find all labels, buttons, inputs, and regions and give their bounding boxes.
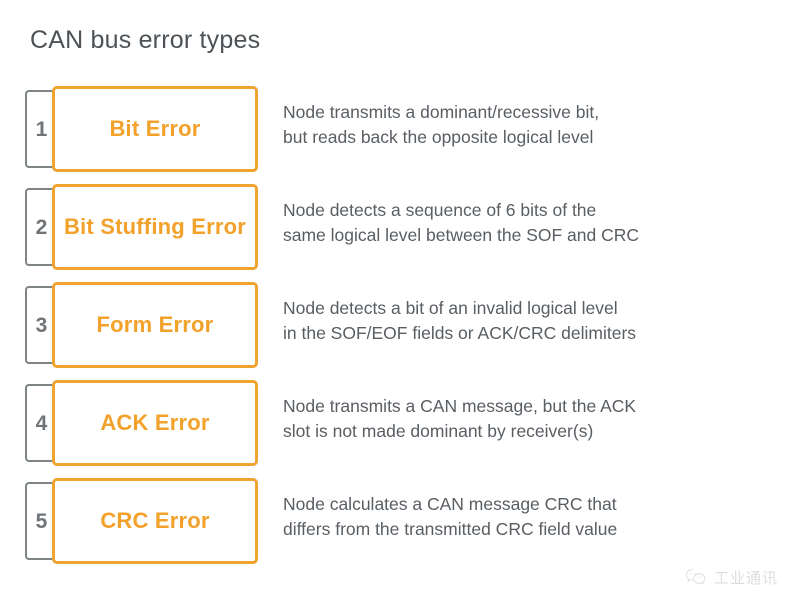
error-type-box[interactable]: Form Error [52,282,258,368]
description-line: Node transmits a dominant/recessive bit, [283,100,788,125]
description-line: Node transmits a CAN message, but the AC… [283,394,788,419]
error-row: 5 CRC Error Node calculates a CAN messag… [0,478,800,576]
error-type-box[interactable]: Bit Stuffing Error [52,184,258,270]
error-type-label: Form Error [97,312,214,338]
error-row: 1 Bit Error Node transmits a dominant/re… [0,86,800,184]
error-description: Node transmits a dominant/recessive bit,… [283,100,788,150]
description-line: slot is not made dominant by receiver(s) [283,419,788,444]
description-line: but reads back the opposite logical leve… [283,125,788,150]
slide-canvas: CAN bus error types 1 Bit Error Node tra… [0,0,800,600]
error-type-list: 1 Bit Error Node transmits a dominant/re… [0,86,800,576]
error-type-label: CRC Error [100,508,209,534]
error-type-box[interactable]: CRC Error [52,478,258,564]
error-type-label: Bit Error [109,116,200,142]
description-line: Node calculates a CAN message CRC that [283,492,788,517]
error-description: Node calculates a CAN message CRC that d… [283,492,788,542]
error-type-box[interactable]: Bit Error [52,86,258,172]
wechat-icon [685,568,707,587]
error-row: 3 Form Error Node detects a bit of an in… [0,282,800,380]
watermark: 工业通讯 [685,567,778,588]
error-row: 4 ACK Error Node transmits a CAN message… [0,380,800,478]
error-row: 2 Bit Stuffing Error Node detects a sequ… [0,184,800,282]
error-type-label: ACK Error [100,410,209,436]
description-line: same logical level between the SOF and C… [283,223,788,248]
description-line: in the SOF/EOF fields or ACK/CRC delimit… [283,321,788,346]
error-description: Node detects a bit of an invalid logical… [283,296,788,346]
description-line: Node detects a sequence of 6 bits of the [283,198,788,223]
description-line: differs from the transmitted CRC field v… [283,517,788,542]
watermark-text: 工业通讯 [714,567,778,588]
error-description: Node detects a sequence of 6 bits of the… [283,198,788,248]
error-type-box[interactable]: ACK Error [52,380,258,466]
error-type-label: Bit Stuffing Error [64,214,246,240]
error-description: Node transmits a CAN message, but the AC… [283,394,788,444]
description-line: Node detects a bit of an invalid logical… [283,296,788,321]
page-title: CAN bus error types [30,26,260,55]
